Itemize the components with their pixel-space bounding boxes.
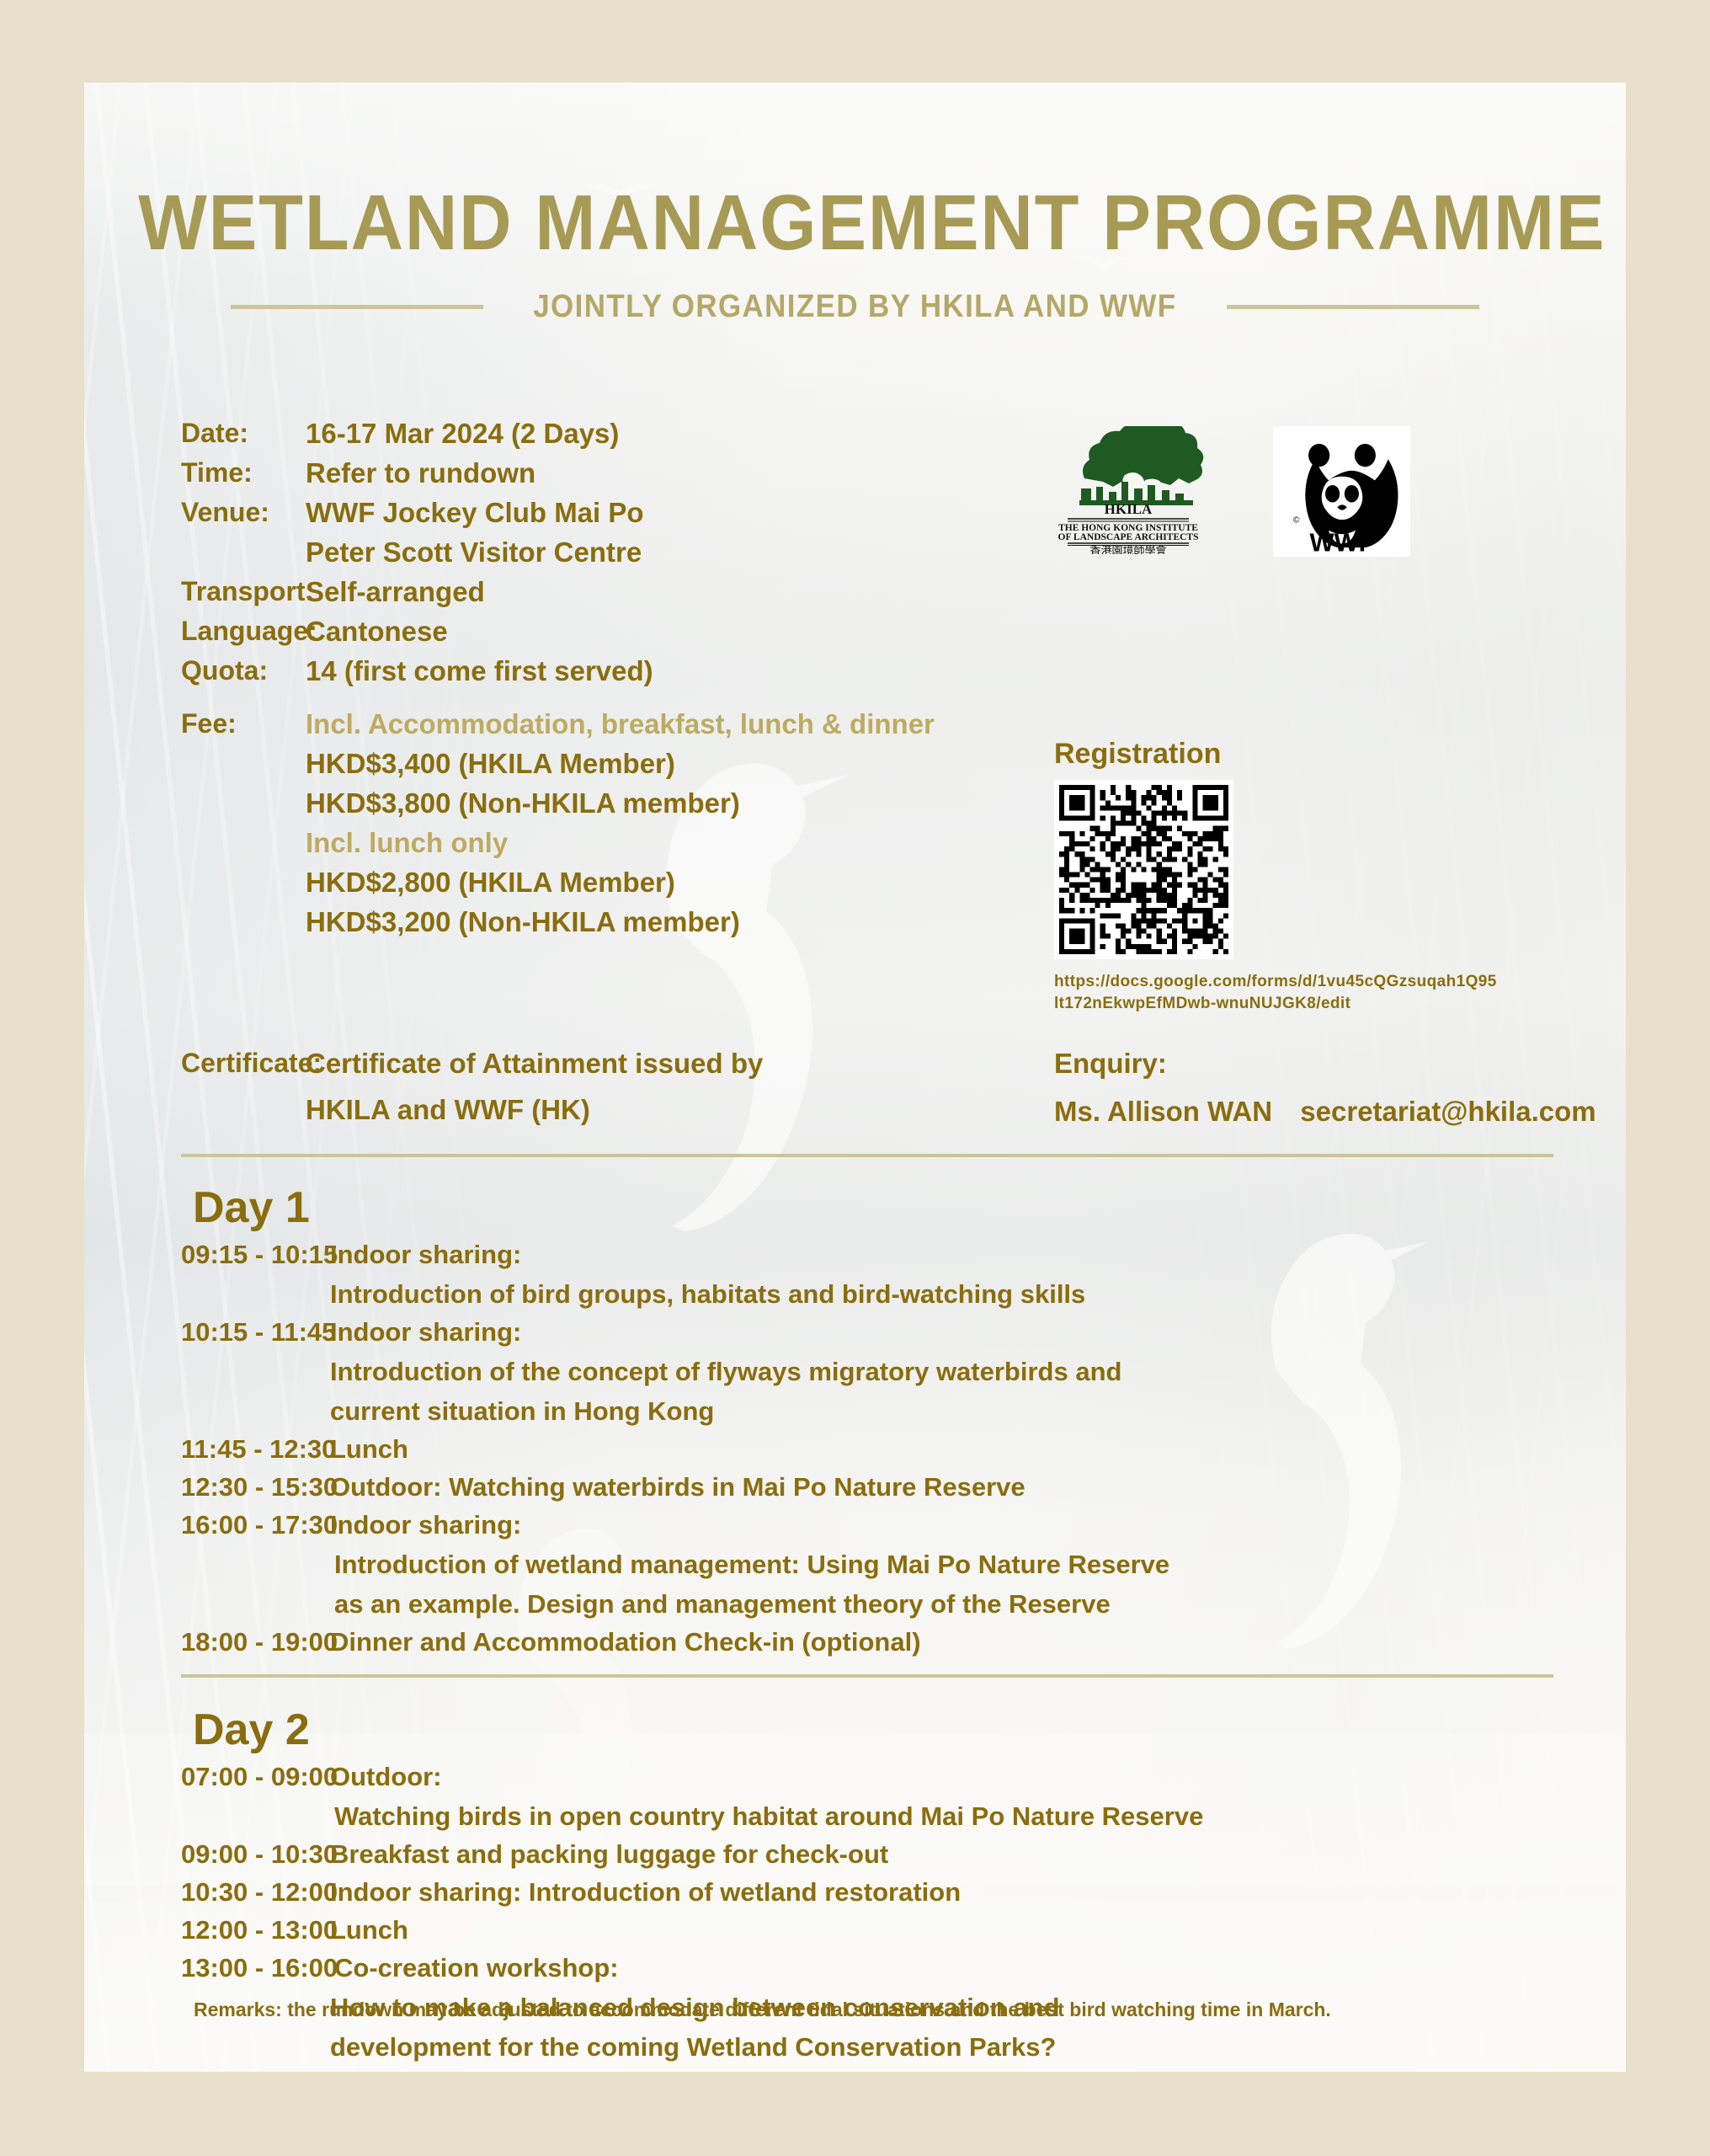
fee-row-note-b: Incl. lunch only (181, 829, 1023, 857)
info-value-transport: Self-arranged (306, 578, 485, 606)
enquiry-contact-email[interactable]: secretariat@hkila.com (1300, 1096, 1595, 1127)
info-value-venue: WWF Jockey Club Mai Po (306, 499, 644, 526)
schedule-row: 09:15 - 10:15 Indoor sharing: Introducti… (181, 1241, 1579, 1307)
schedule-row: 18:00 - 19:00 Dinner and Accommodation C… (181, 1629, 1579, 1655)
info-label-language: Language: (181, 617, 306, 645)
hkila-acronym: HKILA (1105, 501, 1153, 517)
info-label-fee: Fee: (181, 710, 306, 738)
hkila-name-line2: OF LANDSCAPE ARCHITECTS (1058, 532, 1199, 542)
schedule-desc: Outdoor: Watching birds in open country … (330, 1764, 1203, 1829)
info-label-certificate: Certificate: (181, 1049, 306, 1077)
schedule-desc-line: as an example. Design and management the… (330, 1591, 1169, 1617)
info-row-venue-cont: Peter Scott Visitor Centre (181, 538, 1023, 566)
schedule-row: 09:00 - 10:30 Breakfast and packing lugg… (181, 1841, 1579, 1867)
schedule-desc-line: Watching birds in open country habitat a… (330, 1803, 1203, 1829)
schedule-desc-line: Indoor sharing: (330, 1319, 1121, 1345)
info-row-language: Language: Cantonese (181, 617, 1023, 645)
enquiry-title: Enquiry: (1054, 1049, 1596, 1077)
schedule-desc-line: development for the coming Wetland Conse… (330, 2034, 1060, 2060)
info-value-date: 16-17 Mar 2024 (2 Days) (306, 419, 619, 447)
fee-price-a-member: HKD$3,400 (HKILA Member) (306, 750, 675, 777)
fee-label-spacer (181, 868, 306, 896)
day-1-heading: Day 1 (193, 1186, 1579, 1230)
fee-row-b1: HKD$2,800 (HKILA Member) (181, 868, 1023, 896)
schedule-desc-line: Outdoor: (330, 1764, 1203, 1790)
schedule-desc: Outdoor: Watching waterbirds in Mai Po N… (330, 1474, 1025, 1500)
schedule-desc-line: Introduction of bird groups, habitats an… (330, 1281, 1085, 1307)
schedule-desc-line: Dinner and Accommodation Check-in (optio… (330, 1629, 921, 1655)
schedule-desc-line: Breakfast and packing luggage for check-… (330, 1841, 888, 1867)
fee-label-spacer (181, 829, 306, 857)
remarks-note: Remarks: the rundown may be adjusted to … (194, 1999, 1541, 2022)
registration-url[interactable]: https://docs.google.com/forms/d/1vu45cQG… (1054, 971, 1500, 1014)
schedule-desc: Lunch (330, 1436, 408, 1462)
certificate-line-1: Certificate of Attainment issued by (306, 1049, 763, 1077)
wwf-copyright-mark: © (1292, 515, 1299, 525)
schedule-row: 12:30 - 15:30 Outdoor: Watching waterbir… (181, 1474, 1579, 1500)
info-value-language: Cantonese (306, 617, 448, 645)
registration-block: Registration https://docs.google.com/for… (1054, 739, 1559, 1014)
wwf-registered-mark: ® (1384, 520, 1392, 531)
fee-price-b-member: HKD$2,800 (HKILA Member) (306, 868, 675, 896)
schedule-time: 09:00 - 10:30 (181, 1841, 330, 1867)
schedule-time: 18:00 - 19:00 (181, 1629, 330, 1655)
info-label-blank (181, 538, 306, 566)
info-value-time: Refer to rundown (306, 459, 535, 487)
schedule-desc-line: current situation in Hong Kong (330, 1398, 1121, 1424)
info-block: Date: 16-17 Mar 2024 (2 Days) Time: Refe… (181, 419, 1023, 936)
schedule-desc-line: Introduction of wetland management: Usin… (330, 1551, 1169, 1577)
certificate-block: Certificate: Certificate of Attainment i… (181, 1049, 763, 1123)
page-title: WETLAND MANAGEMENT PROGRAMME (138, 184, 1572, 262)
fee-label-spacer (181, 908, 306, 936)
spacer (181, 1077, 763, 1096)
enquiry-block: Enquiry: Ms. Allison WAN secretariat@hki… (1054, 1049, 1596, 1125)
info-label-quota: Quota: (181, 657, 306, 685)
schedule-desc-line: Outdoor: Watching waterbirds in Mai Po N… (330, 1474, 1025, 1500)
fee-label-spacer (181, 750, 306, 777)
schedule-row: 10:30 - 12:00 Indoor sharing: Introducti… (181, 1879, 1579, 1905)
schedule-desc-line: Lunch (330, 1436, 408, 1462)
fee-row-a2: HKD$3,800 (Non-HKILA member) (181, 789, 1023, 817)
page-subtitle: JOINTLY ORGANIZED BY HKILA AND WWF (533, 289, 1176, 325)
section-divider-top (181, 1154, 1553, 1157)
info-row-quota: Quota: 14 (first come first served) (181, 657, 1023, 685)
info-row-time: Time: Refer to rundown (181, 459, 1023, 487)
schedule-row: 10:15 - 11:45 Indoor sharing: Introducti… (181, 1319, 1579, 1424)
fee-row-note-a: Fee: Incl. Accommodation, breakfast, lun… (181, 710, 1023, 738)
fee-note-accommodation: Incl. Accommodation, breakfast, lunch & … (306, 710, 935, 738)
title-block: WETLAND MANAGEMENT PROGRAMME (84, 184, 1626, 262)
certificate-row-1: Certificate: Certificate of Attainment i… (181, 1049, 763, 1077)
schedule-time: 12:30 - 15:30 (181, 1474, 330, 1500)
info-label-time: Time: (181, 459, 306, 487)
info-row-venue: Venue: WWF Jockey Club Mai Po (181, 499, 1023, 526)
enquiry-contact-name: Ms. Allison WAN (1054, 1096, 1272, 1127)
certificate-label-spacer (181, 1096, 306, 1123)
schedule-row: 11:45 - 12:30 Lunch (181, 1436, 1579, 1462)
wwf-logo: © ® WWF (1273, 426, 1410, 557)
wwf-panda-icon: © ® WWF (1283, 430, 1401, 553)
schedule-desc: Indoor sharing: Introduction of the conc… (330, 1319, 1121, 1424)
subtitle-row: JOINTLY ORGANIZED BY HKILA AND WWF (84, 289, 1626, 325)
schedule-desc: Breakfast and packing luggage for check-… (330, 1841, 888, 1867)
spacer (181, 685, 1023, 710)
schedule-desc-line: Indoor sharing: (330, 1512, 1169, 1538)
qr-code-canvas[interactable] (1059, 785, 1228, 954)
registration-qr-code[interactable] (1054, 780, 1233, 959)
schedule-time: 16:00 - 17:30 (181, 1512, 330, 1617)
schedule-desc: Indoor sharing: Introduction of wetland … (330, 1879, 961, 1905)
logos-row: HKILA THE HONG KONG INSTITUTE OF LANDSCA… (1044, 426, 1410, 557)
subtitle-rule-right (1227, 305, 1479, 309)
schedule-desc: Dinner and Accommodation Check-in (optio… (330, 1629, 921, 1655)
schedule-desc-line: Introduction of the concept of flyways m… (330, 1358, 1121, 1385)
hkila-logo: HKILA THE HONG KONG INSTITUTE OF LANDSCA… (1044, 426, 1212, 554)
section-divider-middle (181, 1674, 1553, 1678)
fee-row-b2: HKD$3,200 (Non-HKILA member) (181, 908, 1023, 936)
subtitle-rule-left (231, 305, 483, 309)
schedule-desc-line: Lunch (330, 1917, 408, 1943)
schedule-time: 11:45 - 12:30 (181, 1436, 330, 1462)
certificate-row-2: HKILA and WWF (HK) (181, 1096, 763, 1123)
info-value-quota: 14 (first come first served) (306, 657, 653, 685)
hkila-name-chinese: 香港園境師學會 (1089, 544, 1166, 554)
schedule-time: 10:30 - 12:00 (181, 1879, 330, 1905)
certificate-line-2: HKILA and WWF (HK) (306, 1096, 590, 1123)
schedule-desc-line: Indoor sharing: Introduction of wetland … (330, 1879, 961, 1905)
schedule-desc: Lunch (330, 1917, 408, 1943)
schedule-day-1: Day 1 09:15 - 10:15 Indoor sharing: Intr… (181, 1186, 1579, 1655)
info-label-transport: Transport: (181, 578, 306, 606)
fee-note-lunch-only: Incl. lunch only (306, 829, 508, 857)
schedule-time: 07:00 - 09:00 (181, 1764, 330, 1829)
fee-label-spacer (181, 789, 306, 817)
info-row-transport: Transport: Self-arranged (181, 578, 1023, 606)
info-label-date: Date: (181, 419, 306, 447)
schedule-time: 12:00 - 13:00 (181, 1917, 330, 1943)
registration-title: Registration (1054, 739, 1559, 768)
schedule-row: 07:00 - 09:00 Outdoor: Watching birds in… (181, 1764, 1579, 1829)
info-value-venue-line2: Peter Scott Visitor Centre (306, 538, 642, 566)
info-label-venue: Venue: (181, 499, 306, 526)
enquiry-contact: Ms. Allison WAN secretariat@hkila.com (1054, 1097, 1596, 1125)
poster-content: WETLAND MANAGEMENT PROGRAMME JOINTLY ORG… (84, 83, 1626, 2072)
poster-root: WETLAND MANAGEMENT PROGRAMME JOINTLY ORG… (0, 0, 1710, 2156)
wwf-wordmark: WWF (1309, 527, 1374, 552)
schedule-row: 16:00 - 17:30 Indoor sharing: Introducti… (181, 1512, 1579, 1617)
schedule-time: 09:15 - 10:15 (181, 1241, 330, 1307)
schedule-desc-line: Indoor sharing: (330, 1241, 1085, 1267)
schedule-desc: Indoor sharing: Introduction of wetland … (330, 1512, 1169, 1617)
day-2-heading: Day 2 (193, 1708, 1579, 1752)
info-row-date: Date: 16-17 Mar 2024 (2 Days) (181, 419, 1023, 447)
schedule-desc: Indoor sharing: Introduction of bird gro… (330, 1241, 1085, 1307)
fee-row-a1: HKD$3,400 (HKILA Member) (181, 750, 1023, 777)
fee-price-b-nonmember: HKD$3,200 (Non-HKILA member) (306, 908, 740, 936)
schedule-desc-line: Co-creation workshop: (330, 1955, 1060, 1981)
fee-price-a-nonmember: HKD$3,800 (Non-HKILA member) (306, 789, 740, 817)
poster-sheet: WETLAND MANAGEMENT PROGRAMME JOINTLY ORG… (84, 83, 1626, 2072)
schedule-row: 12:00 - 13:00 Lunch (181, 1917, 1579, 1943)
schedule-time: 10:15 - 11:45 (181, 1319, 330, 1424)
